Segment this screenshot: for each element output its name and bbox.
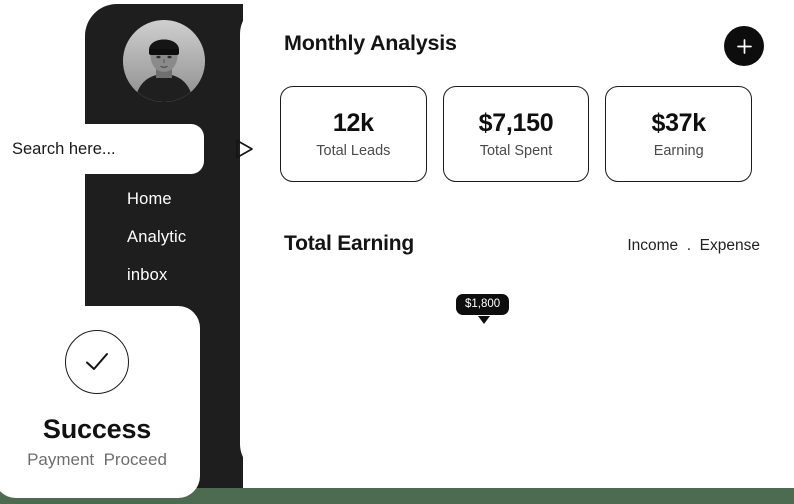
stat-value: 12k bbox=[333, 109, 374, 138]
sidebar-item-home[interactable]: Home bbox=[127, 190, 186, 209]
sidebar-item-label: Home bbox=[127, 190, 172, 208]
chart-legend[interactable]: Income . Expense bbox=[627, 237, 760, 255]
stat-card-total-spent[interactable]: $7,150 Total Spent bbox=[443, 86, 590, 182]
stat-card-row: 12k Total Leads $7,150 Total Spent $37k … bbox=[280, 86, 752, 182]
sidebar-nav: Home Analytic inbox bbox=[127, 190, 186, 285]
stat-label: Total Spent bbox=[480, 143, 553, 159]
check-circle-icon bbox=[65, 330, 129, 394]
success-card: Success Payment Proceed bbox=[0, 306, 200, 498]
success-subtitle: Payment Proceed bbox=[27, 450, 167, 470]
dashboard-panel: Monthly Analysis 12k Total Leads $7,150 … bbox=[240, 4, 790, 474]
chart-title: Total Earning bbox=[284, 232, 414, 256]
sidebar-item-inbox[interactable]: inbox bbox=[127, 266, 186, 285]
send-icon[interactable] bbox=[232, 137, 256, 161]
avatar[interactable] bbox=[123, 20, 205, 102]
search-input[interactable] bbox=[12, 140, 232, 159]
chart-tooltip-arrow bbox=[478, 316, 490, 324]
chart-tooltip: $1,800 bbox=[456, 294, 509, 315]
stat-label: Earning bbox=[654, 143, 704, 159]
page-title: Monthly Analysis bbox=[284, 31, 457, 56]
add-button[interactable] bbox=[724, 26, 764, 66]
stat-value: $7,150 bbox=[479, 109, 554, 138]
chart-header: Total Earning Income . Expense bbox=[284, 232, 760, 256]
chart-tooltip-label: $1,800 bbox=[456, 294, 509, 315]
plus-icon bbox=[736, 38, 753, 55]
sidebar-item-analytic[interactable]: Analytic bbox=[127, 228, 186, 247]
stat-card-earning[interactable]: $37k Earning bbox=[605, 86, 752, 182]
app-screenshot: Home Analytic inbox Success Payment Proc… bbox=[0, 0, 794, 504]
sidebar-item-label: inbox bbox=[127, 266, 167, 284]
stat-value: $37k bbox=[651, 109, 705, 138]
search-bar[interactable] bbox=[0, 124, 204, 174]
stat-card-total-leads[interactable]: 12k Total Leads bbox=[280, 86, 427, 182]
success-title: Success bbox=[43, 414, 151, 445]
sidebar-item-label: Analytic bbox=[127, 228, 186, 246]
avatar-photo bbox=[123, 20, 205, 102]
stat-label: Total Leads bbox=[316, 143, 390, 159]
